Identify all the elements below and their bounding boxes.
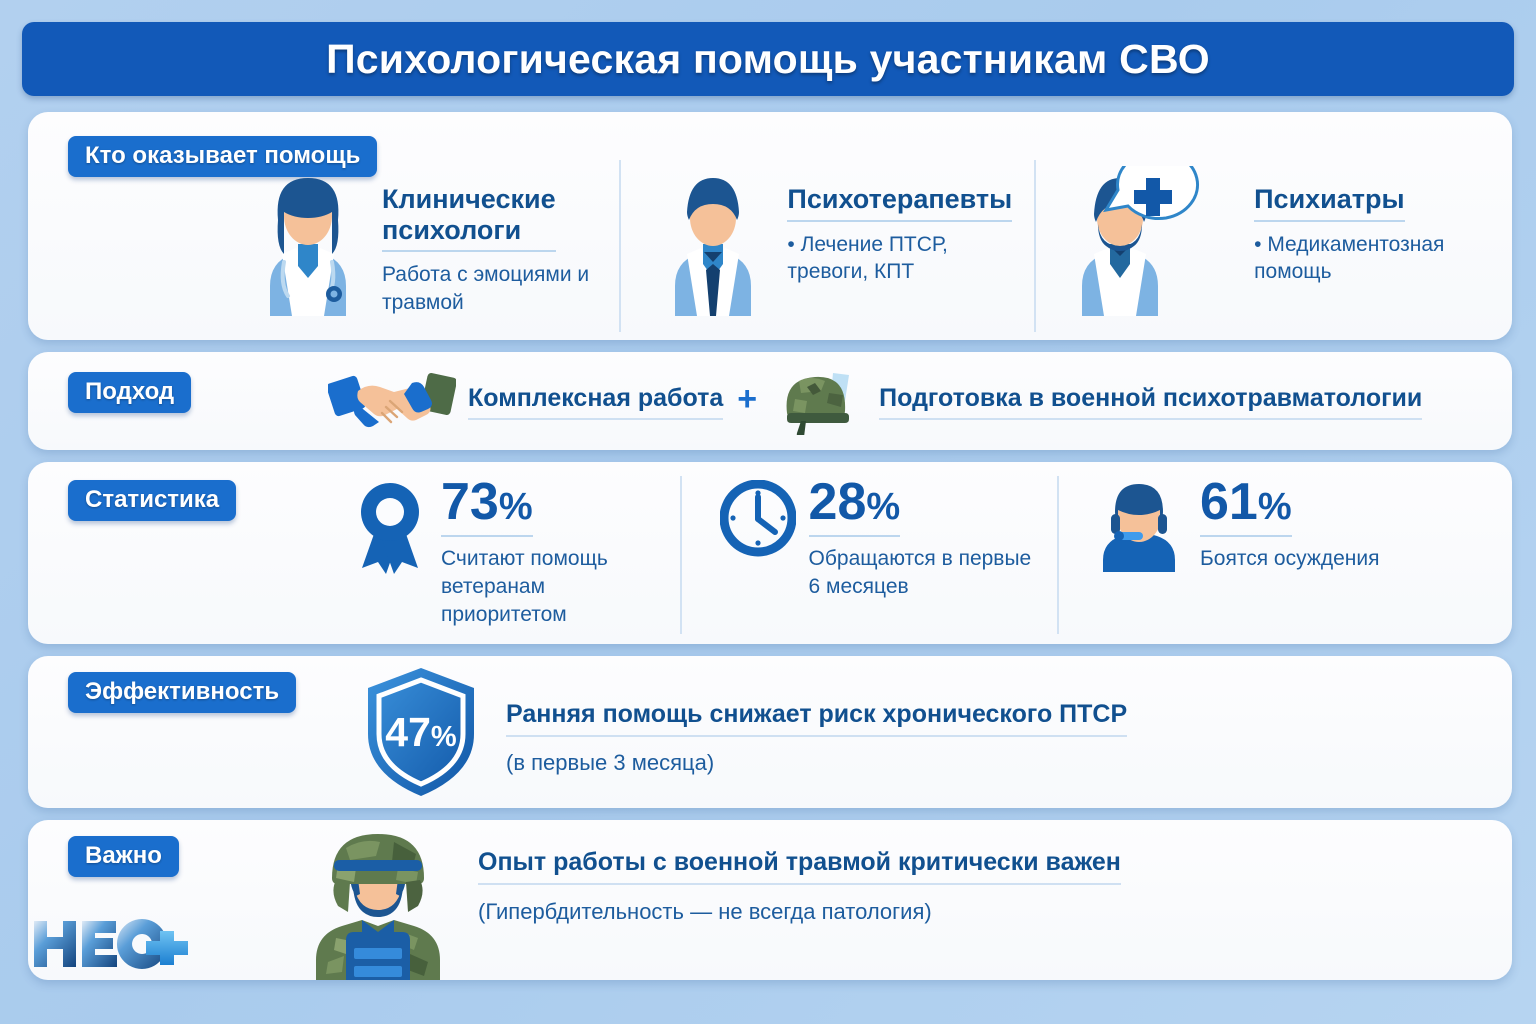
infographic-page: Психологическая помощь участникам СВО Кт… — [0, 0, 1536, 1024]
important-row: Опыт работы с военной травмой критически… — [298, 820, 1121, 985]
effectiveness-headline: Ранняя помощь снижает риск хронического … — [506, 700, 1127, 737]
role-description: • Медикаментозная помощь — [1254, 231, 1488, 286]
section-card-important: Важно — [28, 820, 1512, 980]
section-card-approach: Подход Комплексная работа + — [28, 352, 1512, 450]
effectiveness-text-block: Ранняя помощь снижает риск хронического … — [506, 700, 1127, 776]
stat-body: 28% Обращаются в первые 6 месяцев — [809, 476, 1039, 601]
neo-plus-logo — [30, 915, 190, 975]
role-psychotherapists: Психотерапевты • Лечение ПТСР, тревоги, … — [619, 160, 1034, 332]
approach-row: Комплексная работа + Подготовка в военно… — [328, 362, 1422, 442]
female-doctor-avatar-icon — [248, 166, 368, 321]
stat-item-fear-judgement: 61% Боятся осуждения — [1057, 476, 1488, 634]
stat-value: 73% — [441, 476, 533, 537]
stat-item-priority: 73% Считают помощь ветеранам приоритетом — [328, 476, 680, 634]
effectiveness-row: 47% Ранняя помощь снижает риск хроническ… — [358, 664, 1127, 805]
stat-body: 73% Считают помощь ветеранам приоритетом — [441, 476, 661, 629]
role-description: • Лечение ПТСР, тревоги, КПТ — [787, 231, 1034, 286]
important-text-block: Опыт работы с военной травмой критически… — [478, 848, 1121, 925]
section-tag-statistics: Статистика — [68, 480, 236, 521]
award-ribbon-icon — [352, 480, 428, 581]
handshake-icon — [328, 365, 456, 440]
stat-label: Боятся осуждения — [1200, 545, 1380, 573]
stat-label: Обращаются в первые 6 месяцев — [809, 545, 1039, 601]
stat-value: 28% — [809, 476, 901, 537]
section-tag-approach: Подход — [68, 372, 191, 413]
effectiveness-subtext: (в первые 3 месяца) — [506, 750, 1127, 776]
role-title: Психотерапевты — [787, 184, 1012, 222]
military-helmet-icon — [771, 365, 867, 440]
role-text-block: Психиатры • Медикаментозная помощь — [1254, 184, 1488, 286]
statistics-row: 73% Считают помощь ветеранам приоритетом — [328, 476, 1488, 634]
section-card-who-helps: Кто оказывает помощь — [28, 112, 1512, 340]
page-title-bar: Психологическая помощь участникам СВО — [22, 22, 1514, 96]
role-description: Работа с эмоциями и травмой — [382, 261, 619, 316]
stat-label: Считают помощь ветеранам приоритетом — [441, 545, 661, 629]
person-headset-icon — [1091, 480, 1187, 577]
bearded-doctor-avatar-icon — [1070, 166, 1240, 321]
clock-icon — [720, 480, 796, 565]
role-psychiatrists: Психиатры • Медикаментозная помощь — [1034, 160, 1488, 332]
shield-icon: 47% — [358, 664, 484, 805]
role-text-block: Клиническиепсихологи Работа с эмоциями и… — [382, 184, 619, 316]
role-clinical-psychologists: Клиническиепсихологи Работа с эмоциями и… — [218, 160, 619, 332]
section-card-statistics: Статистика 73% Считают помощь ветеранам … — [28, 462, 1512, 644]
section-tag-effectiveness: Эффективность — [68, 672, 296, 713]
page-title: Психологическая помощь участникам СВО — [326, 36, 1210, 83]
stat-body: 61% Боятся осуждения — [1200, 476, 1380, 573]
male-doctor-avatar-icon — [653, 166, 773, 321]
section-tag-important: Важно — [68, 836, 179, 877]
soldier-helmet-avatar-icon — [298, 820, 458, 985]
role-title: Психиатры — [1254, 184, 1404, 222]
important-headline: Опыт работы с военной травмой критически… — [478, 848, 1121, 885]
approach-right-text: Подготовка в военной психотравматологии — [879, 384, 1422, 420]
roles-row: Клиническиепсихологи Работа с эмоциями и… — [218, 160, 1488, 332]
stat-value: 61% — [1200, 476, 1292, 537]
approach-plus-sign: + — [737, 380, 757, 419]
section-card-effectiveness: Эффективность 47% Ранняя помощь снижа — [28, 656, 1512, 808]
approach-left-text: Комплексная работа — [468, 384, 723, 420]
stat-item-first-six-months: 28% Обращаются в первые 6 месяцев — [680, 476, 1057, 634]
role-text-block: Психотерапевты • Лечение ПТСР, тревоги, … — [787, 184, 1034, 286]
role-title: Клиническиепсихологи — [382, 184, 556, 252]
important-subtext: (Гипербдительность — не всегда патология… — [478, 899, 1121, 925]
